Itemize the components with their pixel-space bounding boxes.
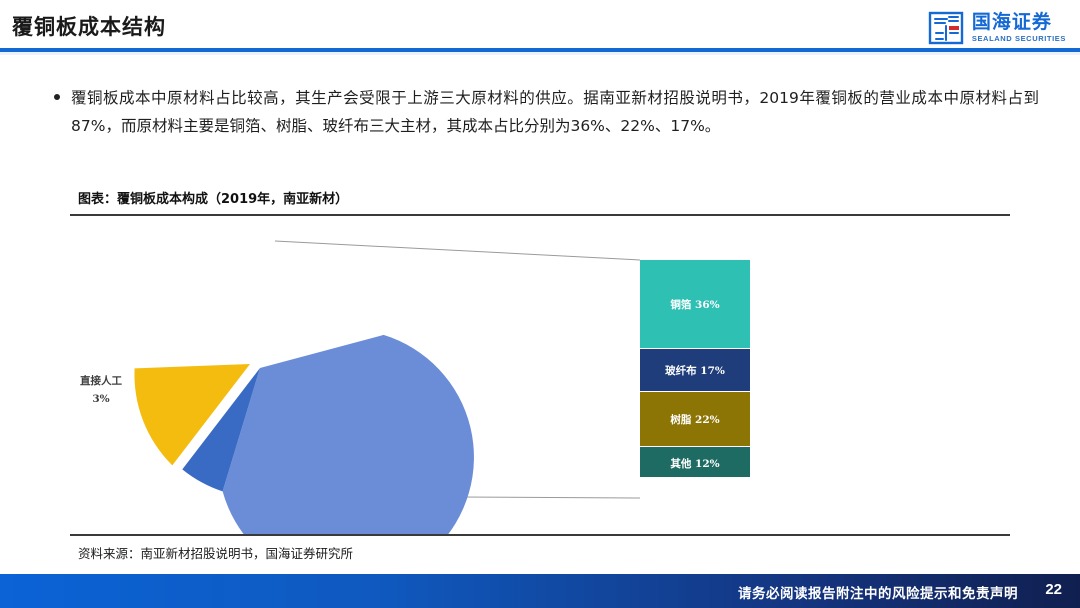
- logo-text-en: SEALAND SECURITIES: [972, 35, 1066, 43]
- bullet-paragraph: 覆铜板成本中原材料占比较高，其生产会受限于上游三大原材料的供应。据南亚新材招股说…: [54, 84, 1039, 140]
- bar-label-resin: 树脂 22%: [670, 413, 719, 426]
- chart-canvas: 直接材料 87% 制造费用 10% 直接人工 3% 铜箔 36% 玻纤布 17%…: [70, 216, 1010, 534]
- header-divider-light: [0, 52, 1080, 55]
- bar-label-other: 其他 12%: [670, 457, 719, 470]
- page-title: 覆铜板成本结构: [12, 11, 166, 41]
- cost-structure-chart: 直接材料 87% 制造费用 10% 直接人工 3% 铜箔 36% 玻纤布 17%…: [70, 216, 1010, 534]
- figure-source: 资料来源：南亚新材招股说明书，国海证券研究所: [70, 536, 1010, 562]
- pie-label-direct-material: 直接材料 87%: [275, 312, 349, 326]
- pie-label-manufacturing-cost: 制造费用 10%: [148, 337, 222, 351]
- slide-footer: 请务必阅读报告附注中的风险提示和免责声明 22: [0, 574, 1080, 608]
- pie-label-direct-labor-name: 直接人工: [80, 374, 122, 387]
- pie-chart: 直接材料 87% 制造费用 10% 直接人工 3%: [80, 312, 474, 534]
- figure-caption: 图表：覆铜板成本构成（2019年，南亚新材）: [70, 188, 1010, 214]
- pie-slice-direct-material: [223, 335, 474, 534]
- figure-block: 图表：覆铜板成本构成（2019年，南亚新材） 直接材料 87%: [70, 188, 1010, 560]
- pie-label-direct-labor-value: 3%: [92, 393, 109, 405]
- bar-label-glass-cloth: 玻纤布 17%: [665, 364, 725, 377]
- bar-label-copper-foil: 铜箔 36%: [670, 298, 719, 311]
- bullet-text: 覆铜板成本中原材料占比较高，其生产会受限于上游三大原材料的供应。据南亚新材招股说…: [71, 84, 1039, 140]
- logo-text-cn: 国海证券: [972, 13, 1066, 32]
- slide-header: 覆铜板成本结构 国海证券: [0, 0, 1080, 56]
- sealand-logo-icon: [927, 10, 965, 46]
- slide: 覆铜板成本结构 国海证券: [0, 0, 1080, 608]
- page-number: 22: [1045, 581, 1062, 598]
- company-logo: 国海证券 SEALAND SECURITIES: [927, 10, 1066, 46]
- stacked-breakout-bar: 铜箔 36% 玻纤布 17% 树脂 22% 其他 12%: [640, 260, 750, 477]
- footer-disclaimer: 请务必阅读报告附注中的风险提示和免责声明: [738, 582, 1018, 602]
- bullet-dot-icon: [54, 94, 60, 100]
